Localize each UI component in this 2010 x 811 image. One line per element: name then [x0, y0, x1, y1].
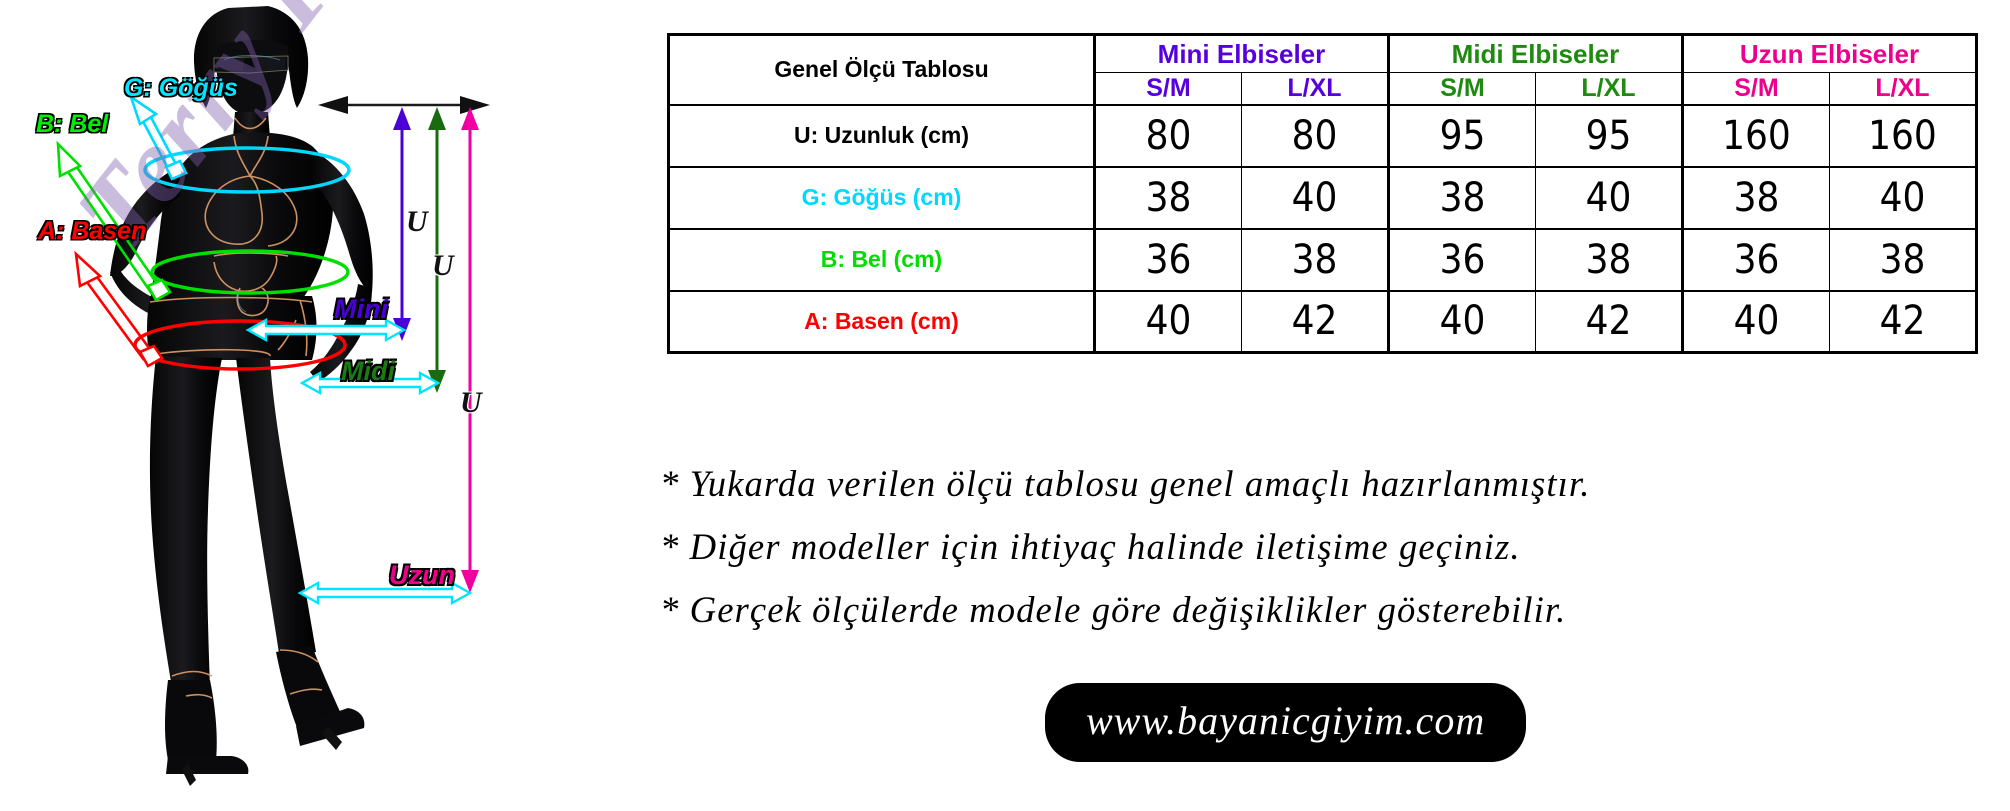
- note-line-3: * Gerçek ölçülerde modele göre değişikli…: [660, 589, 1977, 632]
- table-row: B: Bel (cm) 36 38 36 38 36 38: [669, 229, 1977, 291]
- table-row: A: Basen (cm) 40 42 40 42 40 42: [669, 291, 1977, 353]
- uzun-hem-arrow: [300, 583, 470, 603]
- row-label-basen: A: Basen (cm): [669, 291, 1095, 353]
- cell-bel-uzun-sm: 36: [1682, 229, 1829, 291]
- cell-basen-uzun-lxl: 42: [1829, 291, 1976, 353]
- group-header-uzun: Uzun Elbiseler: [1682, 35, 1976, 73]
- group-header-mini: Mini Elbiseler: [1094, 35, 1388, 73]
- cell-bel-mini-sm: 36: [1094, 229, 1241, 291]
- cell-uzunluk-midi-lxl: 95: [1535, 105, 1682, 167]
- figure-diagram: [0, 0, 660, 811]
- size-header-midi-lxl: L/XL: [1535, 73, 1682, 105]
- cell-gogus-midi-lxl: 40: [1535, 167, 1682, 229]
- note-line-2: * Diğer modeller için ihtiyaç halinde il…: [660, 526, 1977, 569]
- uzun-length-arrow: [461, 107, 479, 593]
- size-header-mini-sm: S/M: [1094, 73, 1241, 105]
- size-table: Genel Ölçü Tablosu Mini Elbiseler Midi E…: [667, 33, 1978, 354]
- notes-section: * Yukarda verilen ölçü tablosu genel ama…: [660, 463, 1990, 652]
- mini-length-arrow: [393, 107, 411, 341]
- cell-gogus-mini-sm: 38: [1094, 167, 1241, 229]
- size-header-uzun-lxl: L/XL: [1829, 73, 1976, 105]
- website-banner[interactable]: www.bayanicgiyim.com: [1052, 690, 1519, 755]
- cell-gogus-midi-sm: 38: [1388, 167, 1535, 229]
- cell-basen-mini-lxl: 42: [1241, 291, 1388, 353]
- bust-leader-arrow: [131, 97, 186, 179]
- cell-uzunluk-midi-sm: 95: [1388, 105, 1535, 167]
- cell-uzunluk-uzun-lxl: 160: [1829, 105, 1976, 167]
- note-line-1: * Yukarda verilen ölçü tablosu genel ama…: [660, 463, 1977, 506]
- size-header-midi-sm: S/M: [1388, 73, 1535, 105]
- row-label-bel: B: Bel (cm): [669, 229, 1095, 291]
- table-corner-label: Genel Ölçü Tablosu: [669, 35, 1095, 105]
- cell-bel-midi-sm: 36: [1388, 229, 1535, 291]
- cell-basen-midi-lxl: 42: [1535, 291, 1682, 353]
- website-url-text: www.bayanicgiyim.com: [1086, 697, 1485, 744]
- model-silhouette: [110, 6, 373, 786]
- row-label-gogus: G: Göğüs (cm): [669, 167, 1095, 229]
- size-header-mini-lxl: L/XL: [1241, 73, 1388, 105]
- cell-gogus-uzun-lxl: 40: [1829, 167, 1976, 229]
- size-chart-page: Terry Pau G: Göğüs B: Bel A: Basen Mini …: [0, 0, 2010, 811]
- cell-bel-mini-lxl: 38: [1241, 229, 1388, 291]
- table-row: U: Uzunluk (cm) 80 80 95 95 160 160: [669, 105, 1977, 167]
- cell-bel-uzun-lxl: 38: [1829, 229, 1976, 291]
- size-header-uzun-sm: S/M: [1682, 73, 1829, 105]
- cell-basen-mini-sm: 40: [1094, 291, 1241, 353]
- model-illustration: Terry Pau G: Göğüs B: Bel A: Basen Mini …: [0, 0, 660, 811]
- cell-uzunluk-uzun-sm: 160: [1682, 105, 1829, 167]
- cell-basen-uzun-sm: 40: [1682, 291, 1829, 353]
- cell-gogus-mini-lxl: 40: [1241, 167, 1388, 229]
- midi-length-arrow: [428, 107, 446, 393]
- cell-uzunluk-mini-sm: 80: [1094, 105, 1241, 167]
- cell-bel-midi-lxl: 38: [1535, 229, 1682, 291]
- cell-gogus-uzun-sm: 38: [1682, 167, 1829, 229]
- cell-basen-midi-sm: 40: [1388, 291, 1535, 353]
- cell-uzunluk-mini-lxl: 80: [1241, 105, 1388, 167]
- table-header-group-row: Genel Ölçü Tablosu Mini Elbiseler Midi E…: [669, 35, 1977, 73]
- row-label-uzunluk: U: Uzunluk (cm): [669, 105, 1095, 167]
- top-horizontal-arrow: [318, 96, 490, 114]
- table-row: G: Göğüs (cm) 38 40 38 40 38 40: [669, 167, 1977, 229]
- group-header-midi: Midi Elbiseler: [1388, 35, 1682, 73]
